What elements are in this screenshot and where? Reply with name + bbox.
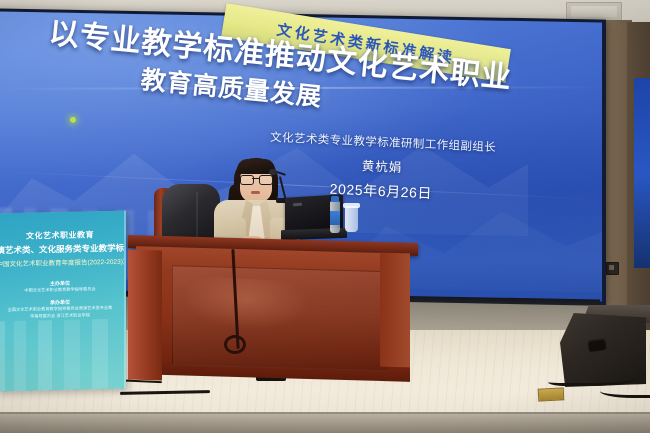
presentation-scene: 文化艺术类新标准解读 以专业教学标准推动文化艺术职业 教育高质量发展 文化艺术类… <box>0 0 650 433</box>
stage-monitor-speaker <box>560 305 650 393</box>
chair-seam <box>196 192 198 238</box>
drinking-cup-lid <box>343 203 360 208</box>
monitor-cable <box>600 375 650 398</box>
desk-highlight <box>186 275 336 353</box>
glasses-bridge <box>252 178 259 179</box>
monitor-handle <box>587 338 606 352</box>
ceiling-vent-inner <box>571 6 617 17</box>
mouth <box>251 191 260 194</box>
glasses-icon <box>240 175 272 183</box>
glasses-lens-left <box>240 175 254 185</box>
desk-cable-coil <box>224 335 246 354</box>
podium-desk <box>128 239 418 387</box>
banner-skyline-graphic <box>0 319 124 392</box>
stage-edge <box>0 414 650 433</box>
banner-line-3: 《中国文化艺术职业教育年度报告(2022-2023)》发布会 <box>0 256 126 269</box>
microphone-icon <box>269 169 277 175</box>
water-bottle-cap <box>331 196 339 202</box>
screen-accent-dot <box>70 117 76 123</box>
chair-backrest <box>162 184 220 242</box>
drinking-cup <box>345 206 358 232</box>
rollup-banner: 文化艺术职业教育 表演艺术类、文化服务类专业教学标准宣贯培训 《中国文化艺术职业… <box>0 211 126 392</box>
banner-line-1: 文化艺术职业教育 <box>0 229 124 243</box>
side-display-screen <box>634 78 650 268</box>
glasses-lens-right <box>259 175 273 185</box>
banner-organizer-body: 中国文化艺术职业教育教学指导委员会 <box>6 286 114 295</box>
desk-front-panel <box>136 246 410 382</box>
wall-outlet-plate <box>606 262 619 275</box>
banner-host-body: 全国文化艺术职业教育教学指导委员会表演艺术类专业教学指导委员会 浙江艺术职业学院 <box>6 305 114 320</box>
water-bottle-label <box>330 211 340 225</box>
laptop-logo <box>293 203 302 207</box>
desk-side-panel-right <box>380 253 410 368</box>
banner-credits: 主办单位 中国文化艺术职业教育教学指导委员会 承办单位 全国文化艺术职业教育教学… <box>6 273 114 320</box>
banner-line-2: 表演艺术类、文化服务类专业教学标准宣贯培训 <box>0 242 126 257</box>
desk-side-panel-left <box>128 250 162 381</box>
